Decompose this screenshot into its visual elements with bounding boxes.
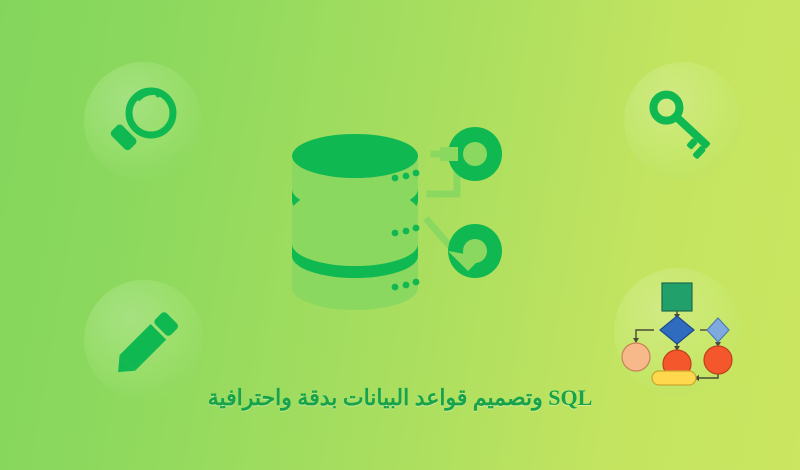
flow-node-diamond-secondary [707,318,729,342]
database-icon [282,126,532,316]
flow-node-circle-peach [622,343,650,371]
flow-node-diamond-primary [660,316,694,344]
pencil-icon [96,292,194,390]
flow-node-pill [652,371,696,385]
search-icon [95,75,191,171]
flow-node-circle-orange-2 [704,346,732,374]
banner-root: SQL وتصميم قواعد البيانات بدقة واحترافية [0,0,800,470]
database-node-bottom [448,224,502,278]
flowchart-icon [620,278,736,390]
database-icon-svg [282,126,532,321]
search-icon-svg [95,75,191,171]
banner-caption: SQL وتصميم قواعد البيانات بدقة واحترافية [0,385,800,411]
key-icon [638,78,730,170]
pencil-icon-svg [96,292,194,390]
database-node-top [440,127,502,181]
key-icon-svg [638,78,730,170]
flow-node-square [662,283,692,311]
flowchart-icon-svg [620,278,736,390]
